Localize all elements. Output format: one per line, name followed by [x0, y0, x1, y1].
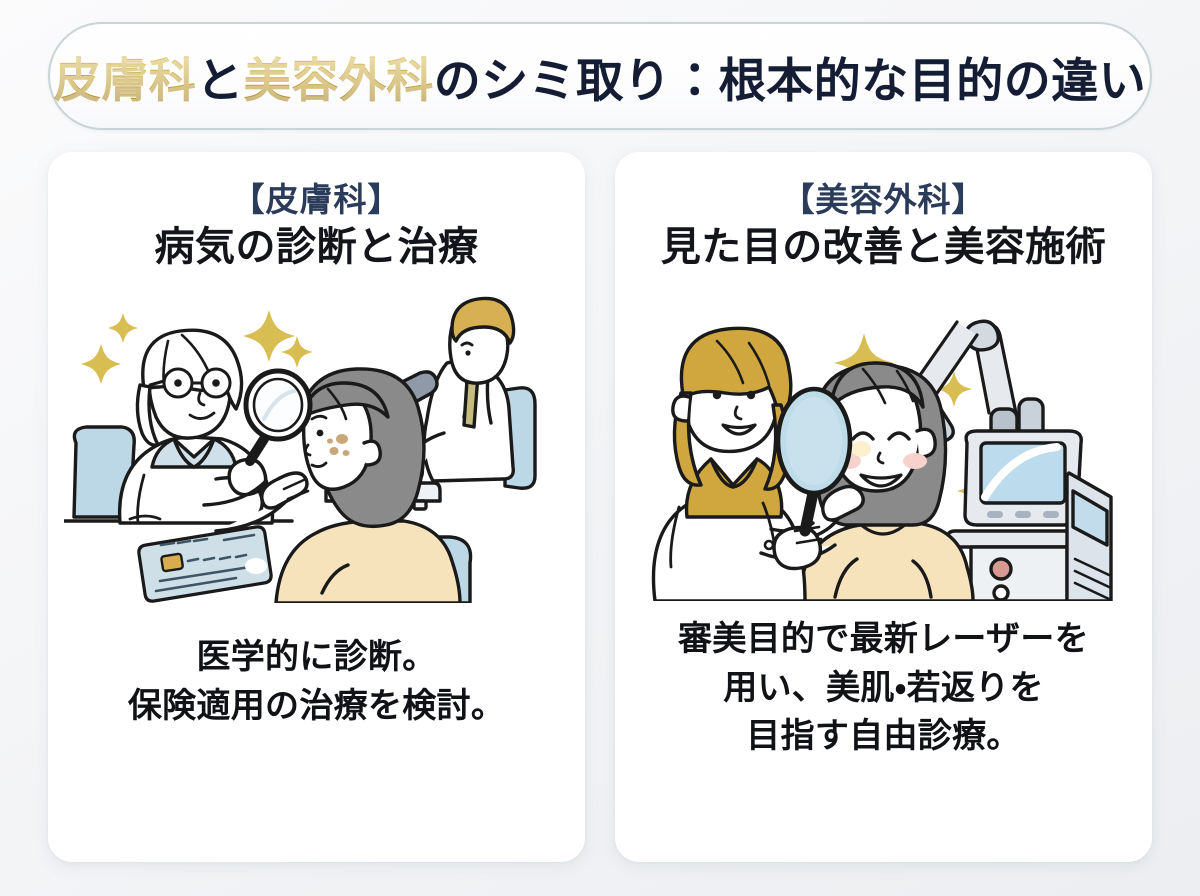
card-dermatology-heading: 病気の診断と治療: [155, 224, 479, 271]
cosmetic-clinic-illustration: [631, 291, 1136, 601]
title-banner: 皮膚科と美容外科のシミ取り：根本的な目的の違い: [48, 22, 1152, 130]
female-doctor-with-glasses: [120, 331, 310, 532]
card-cosmetic-heading: 見た目の改善と美容施術: [661, 224, 1107, 271]
title-segment-rest: のシミ取り：根本的な目的の違い: [434, 42, 1147, 111]
card-cosmetic-bracket-label: 【美容外科】: [782, 182, 986, 218]
card-dermatology: 【皮膚科】 病気の診断と治療: [48, 152, 585, 862]
title-segment-dermatology: 皮膚科: [54, 42, 197, 111]
card-dermatology-bracket-label: 【皮膚科】: [232, 182, 402, 218]
card-cosmetic-caption: 審美目的で最新レーザーを 用い、美肌・若返りを 目指す自由診療。: [678, 615, 1089, 760]
card-dermatology-caption: 医学的に診断。 保険適用の治療を検討。: [128, 633, 505, 730]
comparison-cards: 【皮膚科】 病気の診断と治療: [48, 152, 1152, 862]
caption-line: 医学的に診断。: [128, 633, 505, 681]
insurance-card: [139, 527, 271, 601]
page-title: 皮膚科と美容外科のシミ取り：根本的な目的の違い: [54, 42, 1147, 111]
dermatology-consultation-illustration: [64, 293, 569, 603]
infographic-page: { "title": { "segments": [ { "text": "皮膚…: [0, 0, 1200, 896]
caption-line: 審美目的で最新レーザーを: [678, 615, 1089, 663]
caption-line: 保険適用の治療を検討。: [128, 682, 505, 730]
caption-line: 目指す自由診療。: [678, 712, 1089, 760]
title-segment-conjunction: と: [196, 42, 244, 111]
title-segment-cosmetic: 美容外科: [244, 42, 434, 111]
card-cosmetic-surgery: 【美容外科】 見た目の改善と美容施術: [615, 152, 1152, 862]
caption-line: 用い、美肌・若返りを: [678, 664, 1089, 712]
